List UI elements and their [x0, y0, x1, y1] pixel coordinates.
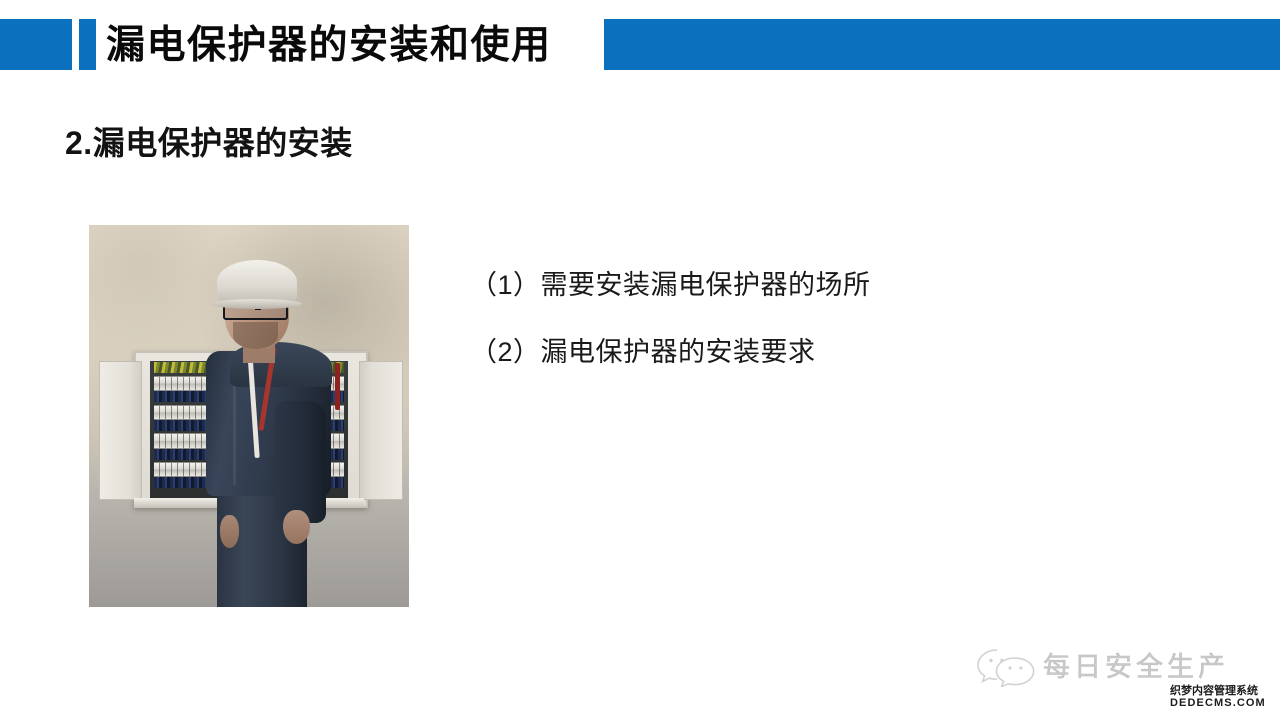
section-subtitle: 2.漏电保护器的安装	[65, 118, 353, 164]
hard-hat-icon	[217, 260, 297, 304]
photo-content	[89, 225, 409, 607]
photo-person	[89, 225, 409, 607]
bullet-list: （1）需要安装漏电保护器的场所 （2）漏电保护器的安装要求	[470, 252, 1110, 386]
wechat-icon	[975, 647, 1037, 687]
photo-person-beard	[233, 322, 278, 349]
wechat-watermark-text: 每日安全生产	[1043, 645, 1229, 684]
list-item: （2）漏电保护器的安装要求	[470, 319, 1110, 386]
list-item: （1）需要安装漏电保护器的场所	[470, 252, 1110, 319]
header-accent-block-right	[604, 19, 1280, 70]
header-accent-block-tick	[79, 19, 96, 70]
hard-hat-brim	[212, 299, 302, 309]
photo-person-hand	[283, 510, 310, 544]
slide-header: 漏电保护器的安装和使用	[0, 19, 1280, 70]
dedecms-watermark: 织梦内容管理系统 DEDECMS.COM	[1170, 686, 1280, 710]
dedecms-watermark-en: DEDECMS.COM	[1170, 698, 1280, 710]
slide-page: { "header": { "title": "漏电保护器的安装和使用", "a…	[0, 0, 1280, 720]
page-title: 漏电保护器的安装和使用	[106, 15, 552, 77]
photo-person-arm	[275, 401, 326, 523]
electrician-photo	[89, 225, 409, 607]
header-accent-block-left	[0, 19, 72, 70]
